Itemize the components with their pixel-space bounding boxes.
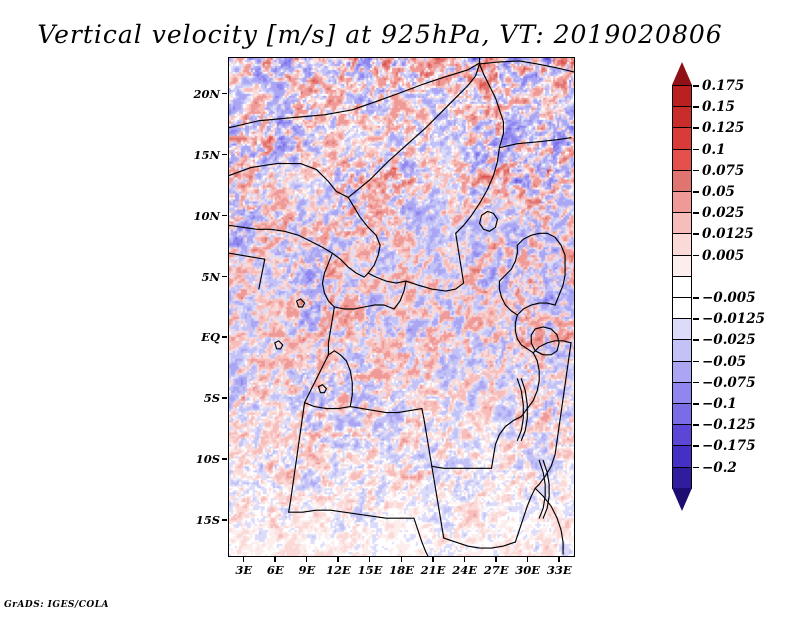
colorbar-band[interactable] [672, 467, 692, 490]
lat-tick-mark [222, 276, 227, 278]
colorbar-band[interactable] [672, 445, 692, 468]
lon-tick-mark [558, 557, 560, 562]
colorbar-tick-mark [693, 212, 699, 214]
colorbar-band[interactable] [672, 149, 692, 172]
colorbar-top-arrow [672, 62, 692, 85]
colorbar-tick-mark [693, 318, 699, 320]
colorbar-band[interactable] [672, 318, 692, 341]
colorbar-band[interactable] [672, 339, 692, 362]
colorbar-band[interactable] [672, 127, 692, 150]
lat-tick-label-10s: 10S [184, 452, 220, 466]
colorbar-label-0_025: 0.025 [702, 205, 744, 221]
colorbar-band[interactable] [672, 170, 692, 193]
colorbar-tick-mark [693, 255, 699, 257]
lon-tick-mark [337, 557, 339, 562]
colorbar[interactable]: 0.1750.150.1250.10.0750.050.0250.01250.0… [672, 62, 694, 550]
page-title: Vertical velocity [m/s] at 925hPa, VT: 2… [0, 20, 760, 49]
colorbar-tick-mark [693, 445, 699, 447]
colorbar-tick-mark [693, 127, 699, 129]
colorbar-label-_0_005: −0.005 [702, 290, 756, 306]
colorbar-label-0_125: 0.125 [702, 120, 744, 136]
colorbar-band[interactable] [672, 255, 692, 278]
lat-tick-label-15n: 15N [184, 148, 220, 162]
colorbar-tick-mark [693, 149, 699, 151]
colorbar-label-_0_2: −0.2 [702, 460, 737, 476]
colorbar-label-0_175: 0.175 [702, 78, 744, 94]
lat-tick-label-5s: 5S [184, 391, 220, 405]
colorbar-band[interactable] [672, 85, 692, 108]
lon-tick-mark [527, 557, 529, 562]
lon-tick-label-33e: 33E [539, 563, 579, 577]
lat-tick-label-eq: EQ [184, 330, 220, 344]
colorbar-tick-mark [693, 424, 699, 426]
lon-tick-mark [432, 557, 434, 562]
lat-tick-label-5n: 5N [184, 270, 220, 284]
colorbar-label-_0_025: −0.025 [702, 332, 756, 348]
lat-tick-mark [222, 154, 227, 156]
colorbar-band[interactable] [672, 191, 692, 214]
colorbar-bottom-arrow [672, 488, 692, 511]
colorbar-label-_0_175: −0.175 [702, 438, 756, 454]
colorbar-tick-mark [693, 467, 699, 469]
colorbar-tick-mark [693, 297, 699, 299]
colorbar-label-0_1: 0.1 [702, 142, 726, 158]
colorbar-label-0_075: 0.075 [702, 163, 744, 179]
lon-tick-mark [464, 557, 466, 562]
colorbar-band[interactable] [672, 297, 692, 320]
colorbar-band[interactable] [672, 212, 692, 235]
colorbar-label-_0_0125: −0.0125 [702, 311, 765, 327]
grads-attribution: GrADS: IGES/COLA [4, 600, 109, 610]
lon-tick-mark [243, 557, 245, 562]
map-plot-area [228, 57, 575, 557]
country-borders-overlay [229, 58, 574, 556]
lon-tick-mark [495, 557, 497, 562]
colorbar-tick-mark [693, 233, 699, 235]
colorbar-band[interactable] [672, 403, 692, 426]
lat-tick-mark [222, 519, 227, 521]
colorbar-band[interactable] [672, 106, 692, 129]
lon-tick-mark [306, 557, 308, 562]
colorbar-band[interactable] [672, 233, 692, 256]
colorbar-label-0_005: 0.005 [702, 248, 744, 264]
lat-tick-mark [222, 215, 227, 217]
colorbar-band[interactable] [672, 382, 692, 405]
colorbar-tick-mark [693, 339, 699, 341]
lat-tick-mark [222, 397, 227, 399]
lon-tick-mark [401, 557, 403, 562]
colorbar-tick-mark [693, 106, 699, 108]
colorbar-tick-mark [693, 170, 699, 172]
colorbar-label-_0_075: −0.075 [702, 375, 756, 391]
colorbar-label-0_0125: 0.0125 [702, 226, 754, 242]
lat-tick-label-15s: 15S [184, 513, 220, 527]
lat-tick-mark [222, 93, 227, 95]
colorbar-tick-mark [693, 191, 699, 193]
colorbar-label-_0_05: −0.05 [702, 354, 746, 370]
lat-tick-label-20n: 20N [184, 87, 220, 101]
lat-tick-mark [222, 336, 227, 338]
colorbar-band[interactable] [672, 276, 692, 299]
lat-tick-label-10n: 10N [184, 209, 220, 223]
lon-tick-mark [369, 557, 371, 562]
colorbar-tick-mark [693, 382, 699, 384]
colorbar-label-_0_1: −0.1 [702, 396, 737, 412]
colorbar-band[interactable] [672, 424, 692, 447]
colorbar-label-0_05: 0.05 [702, 184, 735, 200]
colorbar-label-0_15: 0.15 [702, 99, 735, 115]
lon-tick-mark [274, 557, 276, 562]
colorbar-tick-mark [693, 361, 699, 363]
lat-tick-mark [222, 458, 227, 460]
colorbar-tick-mark [693, 85, 699, 87]
colorbar-band[interactable] [672, 361, 692, 384]
colorbar-tick-mark [693, 403, 699, 405]
colorbar-label-_0_125: −0.125 [702, 417, 756, 433]
